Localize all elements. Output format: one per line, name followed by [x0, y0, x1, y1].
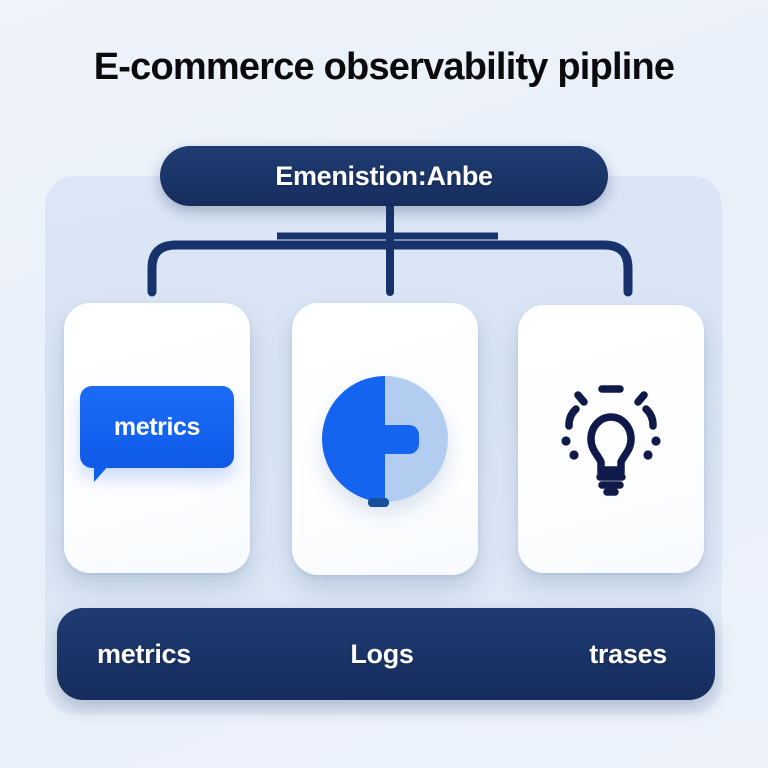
pipeline-banner[interactable]: Emenistion:Anbe — [160, 146, 608, 206]
speech-bubble-icon: metrics — [80, 386, 234, 490]
speech-bubble-tail — [94, 465, 109, 482]
speech-bubble-body: metrics — [80, 386, 234, 468]
pie-chart-icon — [322, 376, 448, 502]
diagram-canvas: E-commerce observability pipline metrics — [0, 0, 768, 768]
logs-card[interactable] — [292, 303, 478, 575]
traces-card[interactable] — [518, 305, 704, 573]
speech-bubble-label: metrics — [114, 413, 200, 442]
pie-chart-nub — [368, 498, 389, 507]
lightbulb-icon — [549, 377, 673, 501]
pipeline-banner-label: Emenistion:Anbe — [275, 161, 493, 192]
page-title: E-commerce observability pipline — [0, 46, 768, 89]
bottom-legend-item-traces[interactable]: trases — [477, 639, 715, 670]
bottom-legend-item-logs[interactable]: Logs — [287, 639, 477, 670]
bottom-legend-item-metrics[interactable]: metrics — [57, 639, 287, 670]
metrics-card[interactable]: metrics — [64, 303, 250, 573]
bottom-legend-bar: metrics Logs trases — [57, 608, 715, 700]
pie-chart-callout-tab — [379, 425, 419, 454]
